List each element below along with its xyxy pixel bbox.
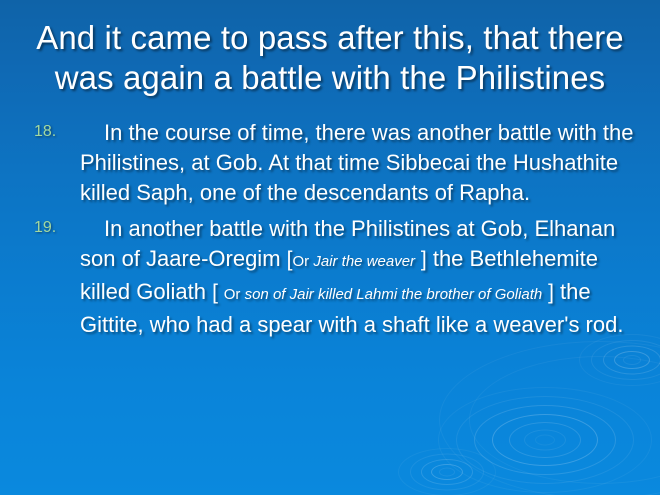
footnote-bracket-open: [ <box>212 281 224 304</box>
verse-item-18: 18. In the course of time, there was ano… <box>0 118 660 208</box>
verse-text: In the course of time, there was another… <box>80 120 634 205</box>
verse-number: 19. <box>34 218 56 238</box>
verse-item-19: 19. In another battle with the Philistin… <box>0 214 660 340</box>
footnote-alt-reading: son of Jair killed Lahmi the brother of … <box>245 286 543 303</box>
page-title: And it came to pass after this, that the… <box>18 18 642 98</box>
footnote-alt-reading: Jair the weaver <box>313 253 415 270</box>
footnote-label: Or <box>292 253 313 270</box>
footnote-label: Or <box>224 286 245 303</box>
slide-canvas: And it came to pass after this, that the… <box>0 0 660 495</box>
footnote-bracket-close: ] <box>542 281 554 304</box>
footnote-bracket-close: ] <box>415 248 427 271</box>
verse-list: 18. In the course of time, there was ano… <box>0 118 660 346</box>
verse-number: 18. <box>34 122 56 142</box>
